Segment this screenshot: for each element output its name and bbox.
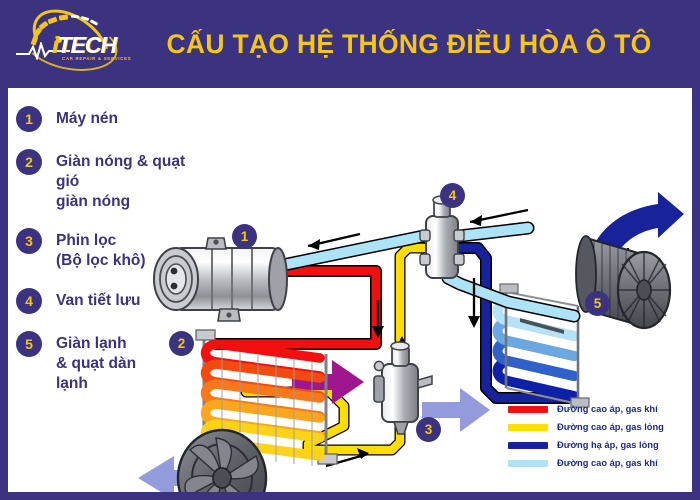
- list-badge: 1: [16, 106, 42, 132]
- legend-label: Đường cao áp, gas lỏng: [557, 422, 664, 432]
- legend-row-yellow: Đường cao áp, gas lỏng: [508, 418, 684, 436]
- callout-receiver-drier: 3: [416, 417, 441, 442]
- itech-logo: iTECH CAR REPAIR & SERVICES: [14, 12, 136, 76]
- legend-label: Đường cao áp, gas khí: [557, 404, 658, 414]
- content-panel: 1 Máy nén 2 Giàn nóng & quạt gió giàn nó…: [8, 88, 692, 492]
- list-badge: 4: [16, 288, 42, 314]
- legend-swatch: [508, 460, 548, 467]
- expansion-valve-unit: [420, 196, 464, 278]
- legend-label: Đường cao áp, gas khí: [557, 458, 658, 468]
- component-list: 1 Máy nén 2 Giàn nóng & quạt gió giàn nó…: [16, 106, 206, 411]
- logo-wordmark: iTECH: [52, 32, 116, 59]
- list-item-label: Giàn nóng & quạt gió giàn nóng: [56, 149, 206, 211]
- list-badge: 3: [16, 228, 42, 254]
- list-item-label: Máy nén: [56, 106, 118, 129]
- condenser-fan: [178, 430, 266, 492]
- callout-compressor: 1: [232, 224, 257, 249]
- legend-row-navy: Đường hạ áp, gas lỏng: [508, 436, 684, 454]
- list-item-drier[interactable]: 3 Phin lọc (Bộ lọc khô): [16, 228, 206, 271]
- legend-swatch: [508, 424, 548, 431]
- list-item-condenser[interactable]: 2 Giàn nóng & quạt gió giàn nóng: [16, 149, 206, 211]
- logo-tagline: CAR REPAIR & SERVICES: [62, 56, 131, 61]
- callout-expansion-valve: 4: [440, 183, 465, 208]
- list-badge: 2: [16, 149, 42, 175]
- logo-wordmark-rest: TECH: [57, 32, 116, 58]
- list-item-expansion-valve[interactable]: 4 Van tiết lưu: [16, 288, 206, 314]
- list-item-compressor[interactable]: 1 Máy nén: [16, 106, 206, 132]
- callout-condenser: 2: [169, 331, 194, 356]
- callout-evaporator: 5: [585, 291, 610, 316]
- page-title: CẤU TẠO HỆ THỐNG ĐIỀU HÒA Ô TÔ: [136, 29, 700, 60]
- list-badge: 5: [16, 331, 42, 357]
- legend-swatch: [508, 406, 548, 413]
- list-item-label: Phin lọc (Bộ lọc khô): [56, 228, 146, 271]
- pipe-color-legend: Đường cao áp, gas khí Đường cao áp, gas …: [508, 400, 684, 472]
- legend-swatch: [508, 442, 548, 449]
- list-item-label: Giàn lạnh & quạt dàn lạnh: [56, 331, 136, 393]
- legend-label: Đường hạ áp, gas lỏng: [557, 440, 659, 450]
- list-item-label: Van tiết lưu: [56, 288, 140, 311]
- infographic-poster: iTECH CAR REPAIR & SERVICES CẤU TẠO HỆ T…: [0, 0, 700, 500]
- header-bar: iTECH CAR REPAIR & SERVICES CẤU TẠO HỆ T…: [0, 0, 700, 88]
- legend-row-red: Đường cao áp, gas khí: [508, 400, 684, 418]
- legend-row-lightblue: Đường cao áp, gas khí: [508, 454, 684, 472]
